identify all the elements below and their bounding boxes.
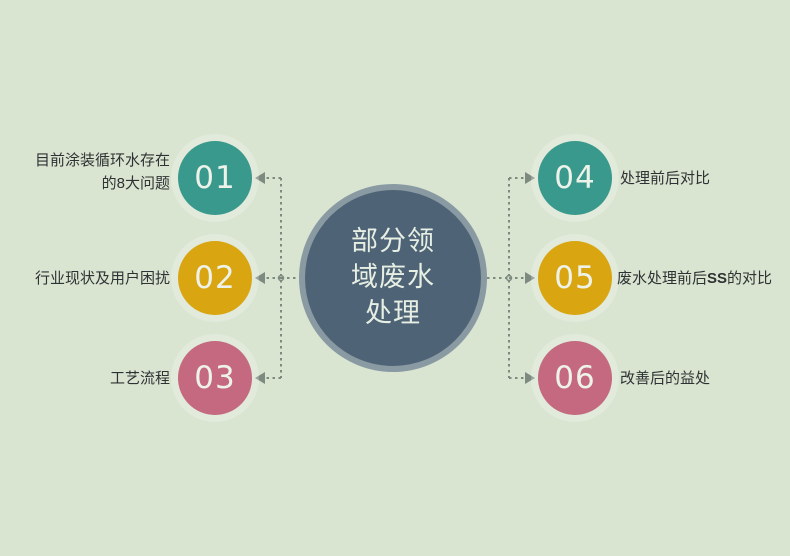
- node-number-01: 01: [194, 163, 235, 194]
- node-circle-03[interactable]: 03: [178, 341, 252, 415]
- node-label-01: 目前涂装循环水存在 的8大问题: [10, 149, 170, 196]
- arrowhead-06: [525, 372, 535, 384]
- arrowhead-04: [525, 172, 535, 184]
- junction-right: [507, 276, 512, 281]
- node-number-02: 02: [194, 263, 235, 294]
- node-label-06: 改善后的益处: [620, 367, 785, 390]
- node-circle-02[interactable]: 02: [178, 241, 252, 315]
- hub-circle[interactable]: 部分领 域废水 处理: [305, 190, 481, 366]
- node-label-02: 行业现状及用户困扰: [10, 267, 170, 290]
- node-circle-01[interactable]: 01: [178, 141, 252, 215]
- node-circle-06[interactable]: 06: [538, 341, 612, 415]
- node-label-05-prefix: 废水处理前后: [617, 270, 707, 287]
- arrowhead-02: [255, 272, 265, 284]
- arrowhead-01: [255, 172, 265, 184]
- node-label-05: 废水处理前后SS的对比: [617, 267, 789, 290]
- node-number-06: 06: [554, 363, 595, 394]
- node-circle-04[interactable]: 04: [538, 141, 612, 215]
- node-label-05-bold: SS: [707, 270, 727, 287]
- infographic-canvas: 部分领 域废水 处理 01 02 03 04 05 06 目前涂装循环水存在 的…: [0, 0, 790, 556]
- node-circle-05[interactable]: 05: [538, 241, 612, 315]
- node-label-05-suffix: 的对比: [727, 270, 772, 287]
- node-number-04: 04: [554, 163, 595, 194]
- node-number-03: 03: [194, 363, 235, 394]
- hub-title: 部分领 域废水 处理: [333, 224, 453, 332]
- node-label-04: 处理前后对比: [620, 167, 785, 190]
- arrowhead-03: [255, 372, 265, 384]
- junction-left: [279, 276, 284, 281]
- node-label-03: 工艺流程: [10, 367, 170, 390]
- arrowhead-05: [525, 272, 535, 284]
- node-number-05: 05: [554, 263, 595, 294]
